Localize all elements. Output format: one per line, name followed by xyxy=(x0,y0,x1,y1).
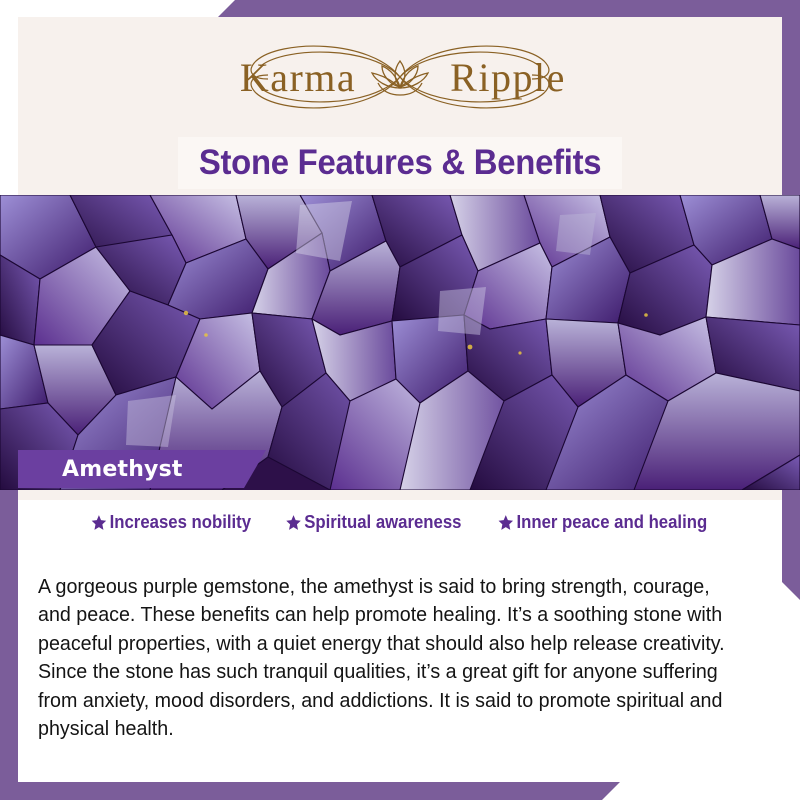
feature-label: Spiritual awareness xyxy=(304,512,461,533)
logo-word-left: Karma xyxy=(240,55,356,100)
star-icon xyxy=(498,514,514,531)
page-title: Stone Features & Benefits xyxy=(199,143,601,183)
page-title-plate: Stone Features & Benefits xyxy=(178,137,622,189)
feature-item: Increases nobility xyxy=(91,512,251,533)
feature-list: Increases nobility Spiritual awareness I… xyxy=(18,512,782,533)
content-top-strip xyxy=(18,490,782,500)
feature-item: Spiritual awareness xyxy=(286,512,462,533)
feature-item: Inner peace and healing xyxy=(498,512,707,533)
stone-name-label: Amethyst xyxy=(62,457,183,482)
frame-band-bottom xyxy=(0,782,620,800)
star-icon xyxy=(91,514,107,531)
logo-artwork: Karma Ripple xyxy=(190,31,610,123)
feature-label: Inner peace and healing xyxy=(517,512,708,533)
brand-logo: Karma Ripple xyxy=(18,31,782,123)
stone-name-banner: Amethyst xyxy=(18,450,266,488)
stone-photo xyxy=(0,195,800,490)
frame-band-top xyxy=(218,0,800,17)
feature-label: Increases nobility xyxy=(110,512,251,533)
description-paragraph: A gorgeous purple gemstone, the amethyst… xyxy=(38,573,735,744)
header: Karma Ripple Stone Features & Benefits xyxy=(18,17,782,195)
content-area: Increases nobility Spiritual awareness I… xyxy=(18,490,782,782)
star-icon xyxy=(286,514,302,531)
infographic-card: Karma Ripple Stone Features & Benefits xyxy=(0,0,800,800)
logo-word-right: Ripple xyxy=(450,55,566,100)
frame-band-left xyxy=(0,490,18,800)
stone-photo-artwork xyxy=(0,195,800,490)
